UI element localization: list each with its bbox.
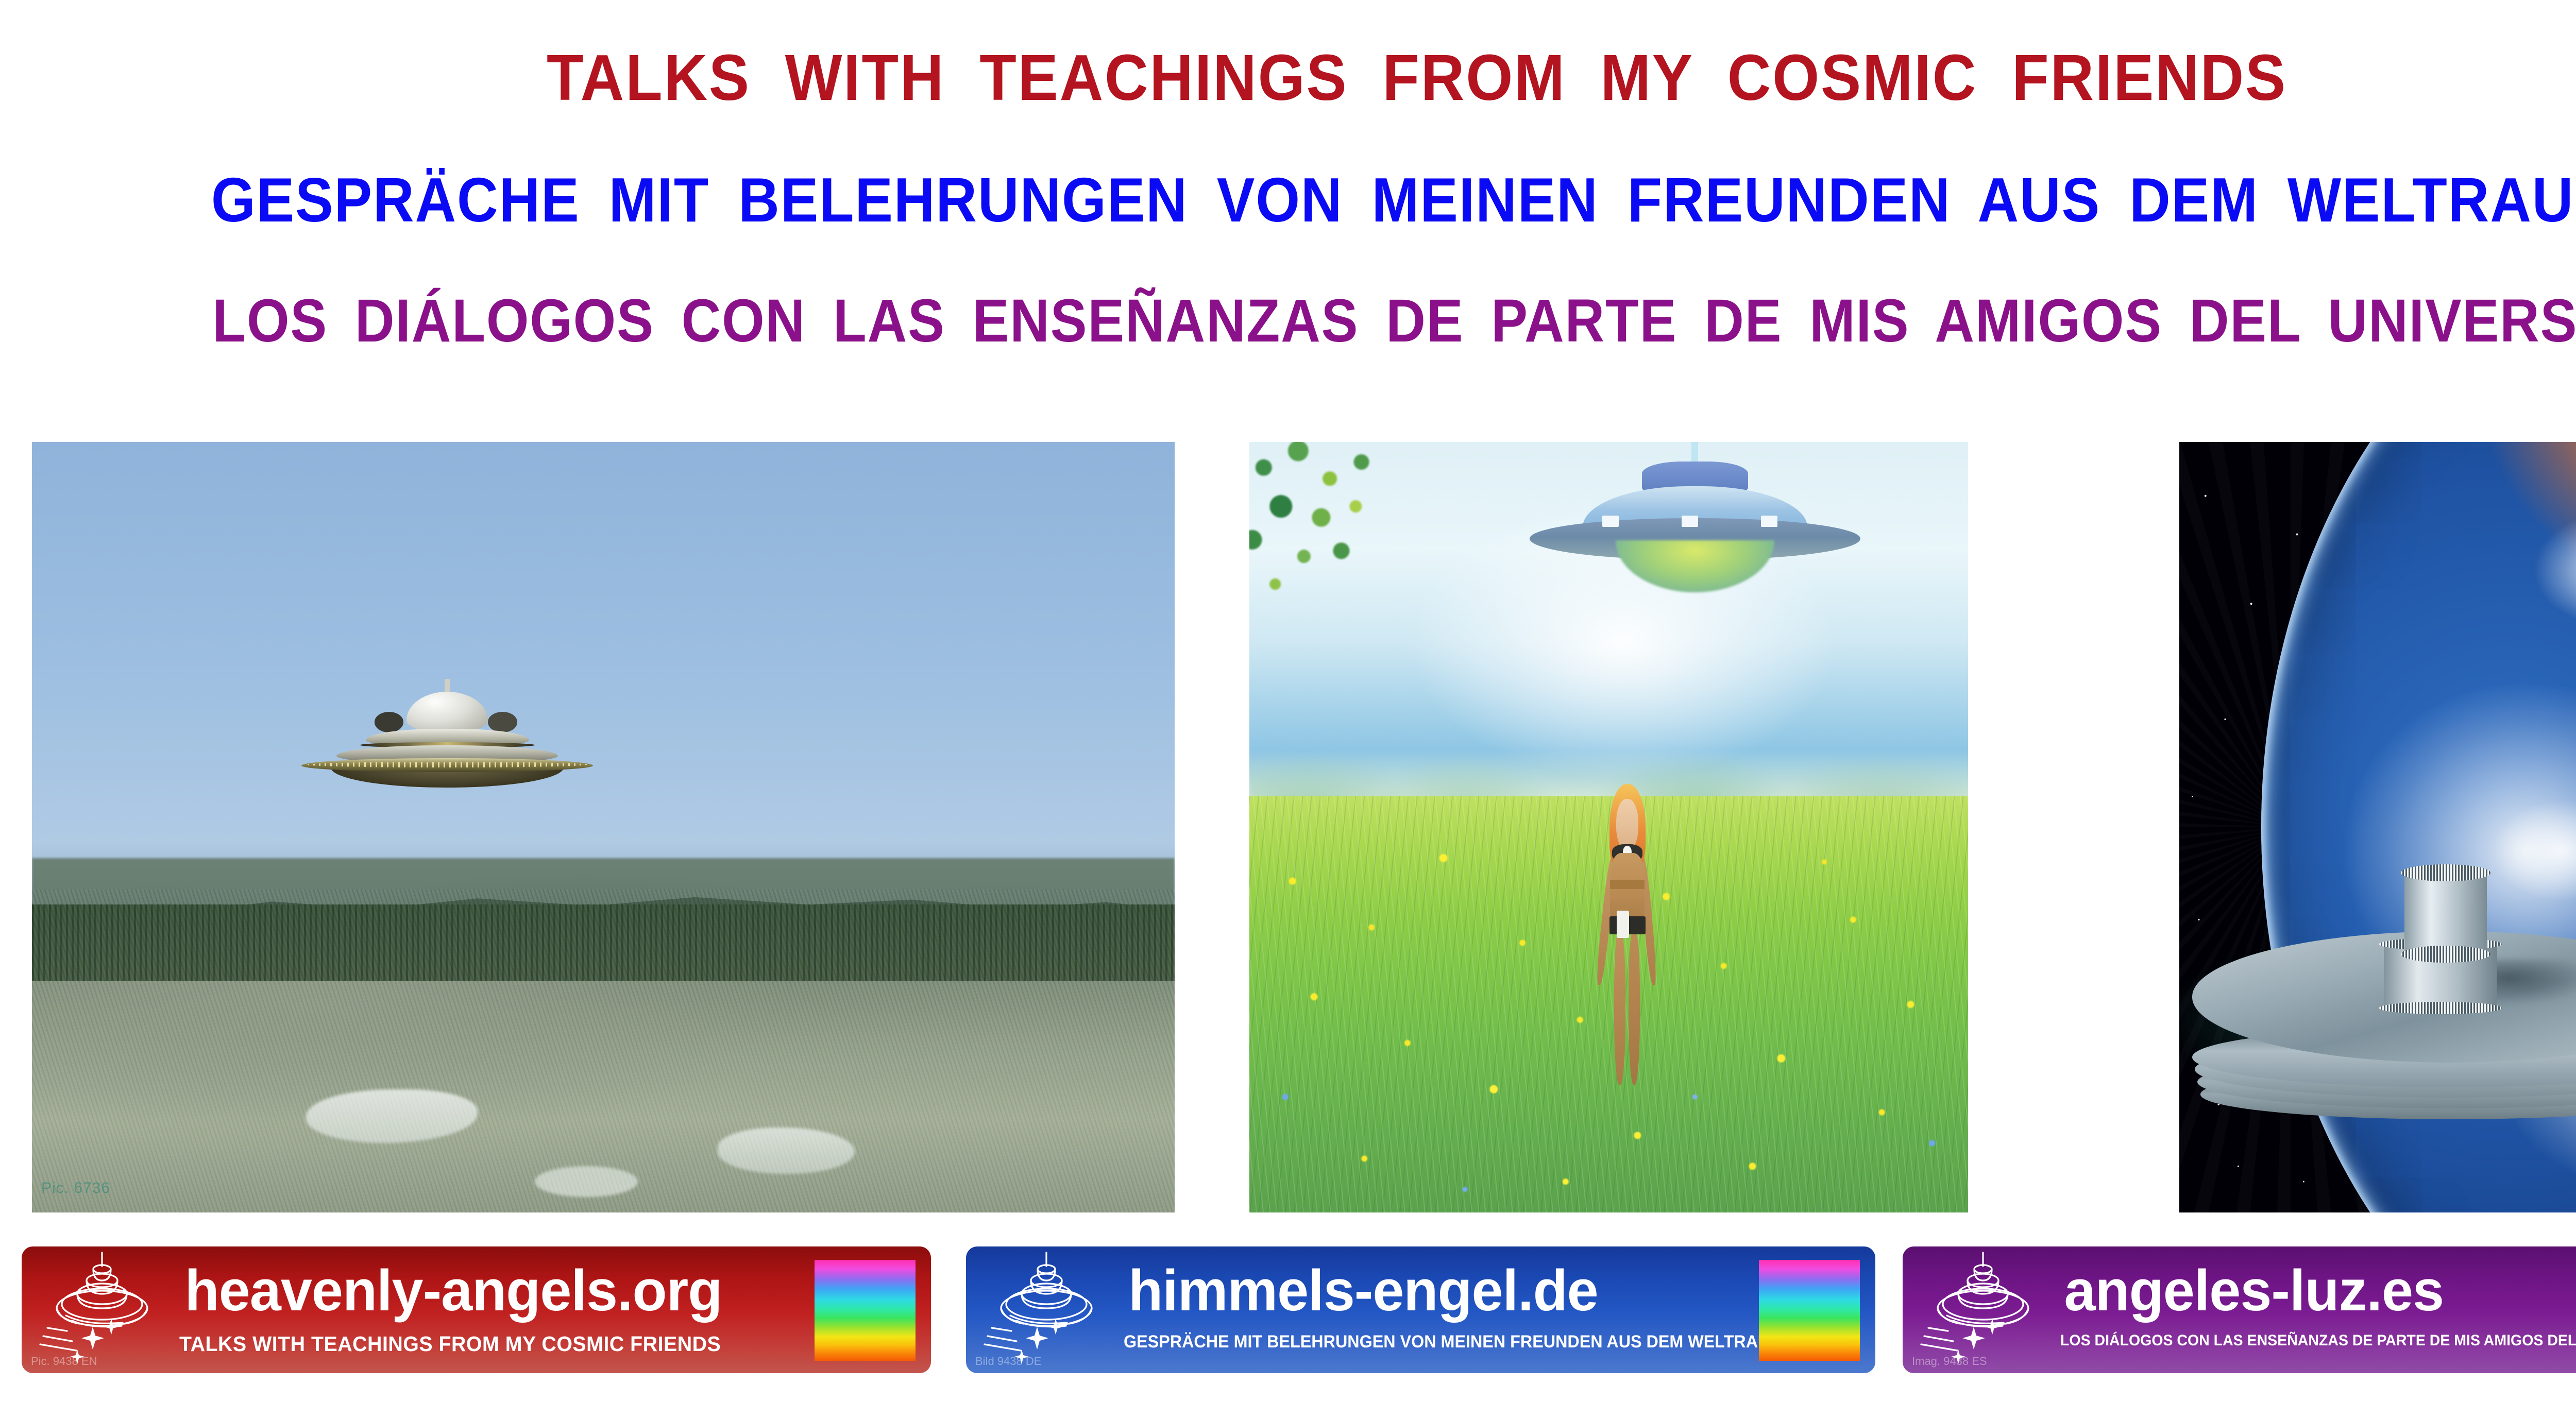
photo-woman-in-meadow [1249, 442, 1968, 1212]
woman-figure [1593, 784, 1662, 1084]
banner-caption: Pic. 9438 EN [31, 1355, 97, 1368]
beamship-icon [1530, 469, 1860, 592]
photo-row: Pic. 6736 [0, 442, 2576, 1215]
beamship-line-art-icon [1916, 1251, 2065, 1370]
foliage-branch [1249, 442, 1522, 712]
disc-station-icon [2192, 931, 2576, 1108]
banner-himmels-engel[interactable]: himmels-engel.de GESPRÄCHE MIT BELEHRUNG… [966, 1246, 1875, 1373]
banner-angeles-luz[interactable]: angeles-luz.es LOS DIÁLOGOS CON LAS ENSE… [1903, 1246, 2576, 1373]
banner-caption: Imag. 9438 ES [1912, 1355, 1987, 1368]
banner-tagline: LOS DIÁLOGOS CON LAS ENSEÑANZAS DE PARTE… [2060, 1332, 2576, 1349]
banner-row: heavenly-angels.org TALKS WITH TEACHINGS… [0, 1246, 2576, 1375]
beamship-icon [301, 692, 593, 784]
banner-heavenly-angels[interactable]: heavenly-angels.org TALKS WITH TEACHINGS… [22, 1246, 931, 1373]
heading-english: TALKS WITH TEACHINGS FROM MY COSMIC FRIE… [99, 40, 2576, 115]
beamship-line-art-icon [35, 1251, 184, 1370]
heading-spanish: LOS DIÁLOGOS CON LAS ENSEÑANZAS DE PARTE… [142, 286, 2576, 356]
banner-domain-label: angeles-luz.es [2064, 1260, 2444, 1321]
photo-beamship-over-hills: Pic. 6736 [32, 442, 1175, 1212]
beamship-line-art-icon [979, 1251, 1129, 1370]
terrain-texture [32, 889, 1175, 1212]
banner-tagline: TALKS WITH TEACHINGS FROM MY COSMIC FRIE… [179, 1332, 721, 1356]
banner-tagline: GESPRÄCHE MIT BELEHRUNGEN VON MEINEN FRE… [1124, 1332, 1784, 1352]
rainbow-swatch [815, 1260, 916, 1361]
heading-german: GESPRÄCHE MIT BELEHRUNGEN VON MEINEN FRE… [134, 164, 2576, 236]
photo-caption: Pic. 6736 [41, 1180, 110, 1197]
banner-domain-label: heavenly-angels.org [185, 1260, 722, 1321]
banner-domain-label: himmels-engel.de [1128, 1260, 1598, 1321]
banner-caption: Bild 9438 DE [975, 1355, 1041, 1368]
heading-block: TALKS WITH TEACHINGS FROM MY COSMIC FRIE… [0, 0, 2576, 412]
photo-disc-station-over-earth [2179, 442, 2576, 1212]
rainbow-swatch [1759, 1260, 1860, 1361]
